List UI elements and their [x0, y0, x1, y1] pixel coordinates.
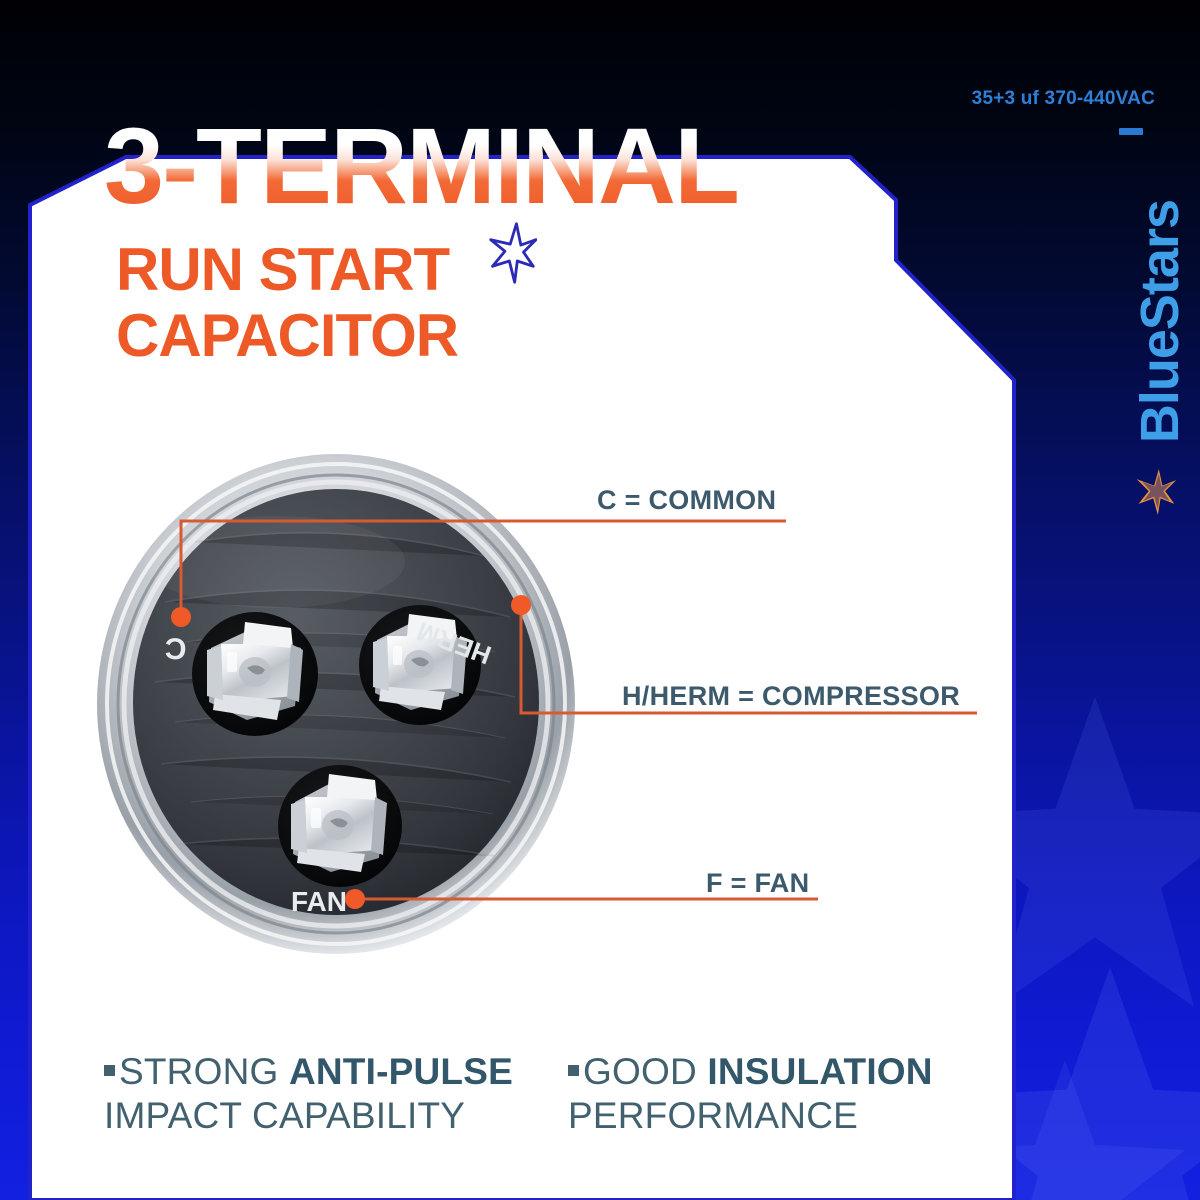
feature-strong-text: ANTI-PULSE	[289, 1051, 513, 1092]
feature-line2-text: IMPACT CAPABILITY	[104, 1094, 513, 1138]
bullet-square-icon	[568, 1065, 579, 1076]
subtitle-line-2: CAPACITOR	[116, 306, 458, 366]
star-watermark-icon	[930, 690, 1200, 1020]
spec-divider-dash	[1119, 128, 1143, 135]
terminal-marking-fan: FAN	[291, 886, 347, 917]
terminal-marking-c: C	[164, 631, 187, 665]
star-watermark-icon	[940, 1055, 1190, 1200]
feature-strong-text: INSULATION	[707, 1051, 932, 1092]
callout-label-fan: F = FAN	[706, 868, 809, 899]
feature-lead-text: GOOD	[583, 1051, 707, 1092]
bullet-square-icon	[104, 1065, 115, 1076]
capacitor-product-image: C HERM FAN	[95, 452, 577, 957]
page-title: 3-TERMINAL	[104, 114, 738, 218]
feature-lead-text: STRONG	[119, 1051, 289, 1092]
callout-label-common: C = COMMON	[597, 485, 776, 516]
subtitle-line-1: RUN START	[116, 240, 449, 300]
brand-name: BlueStars	[1129, 200, 1200, 443]
star-outline-icon	[487, 222, 537, 284]
infographic-canvas: 3-TERMINAL RUN START CAPACITOR	[0, 0, 1200, 1200]
feature-line2-text: PERFORMANCE	[568, 1094, 933, 1138]
product-spec-text: 35+3 uf 370-440VAC	[972, 88, 1155, 110]
callout-label-herm: H/HERM = COMPRESSOR	[622, 681, 960, 712]
feature-anti-pulse: STRONG ANTI-PULSE IMPACT CAPABILITY	[104, 1050, 513, 1137]
feature-insulation: GOOD INSULATION PERFORMANCE	[568, 1050, 933, 1137]
star-watermark-icon	[930, 960, 1200, 1200]
star-gold-icon	[1134, 468, 1178, 516]
